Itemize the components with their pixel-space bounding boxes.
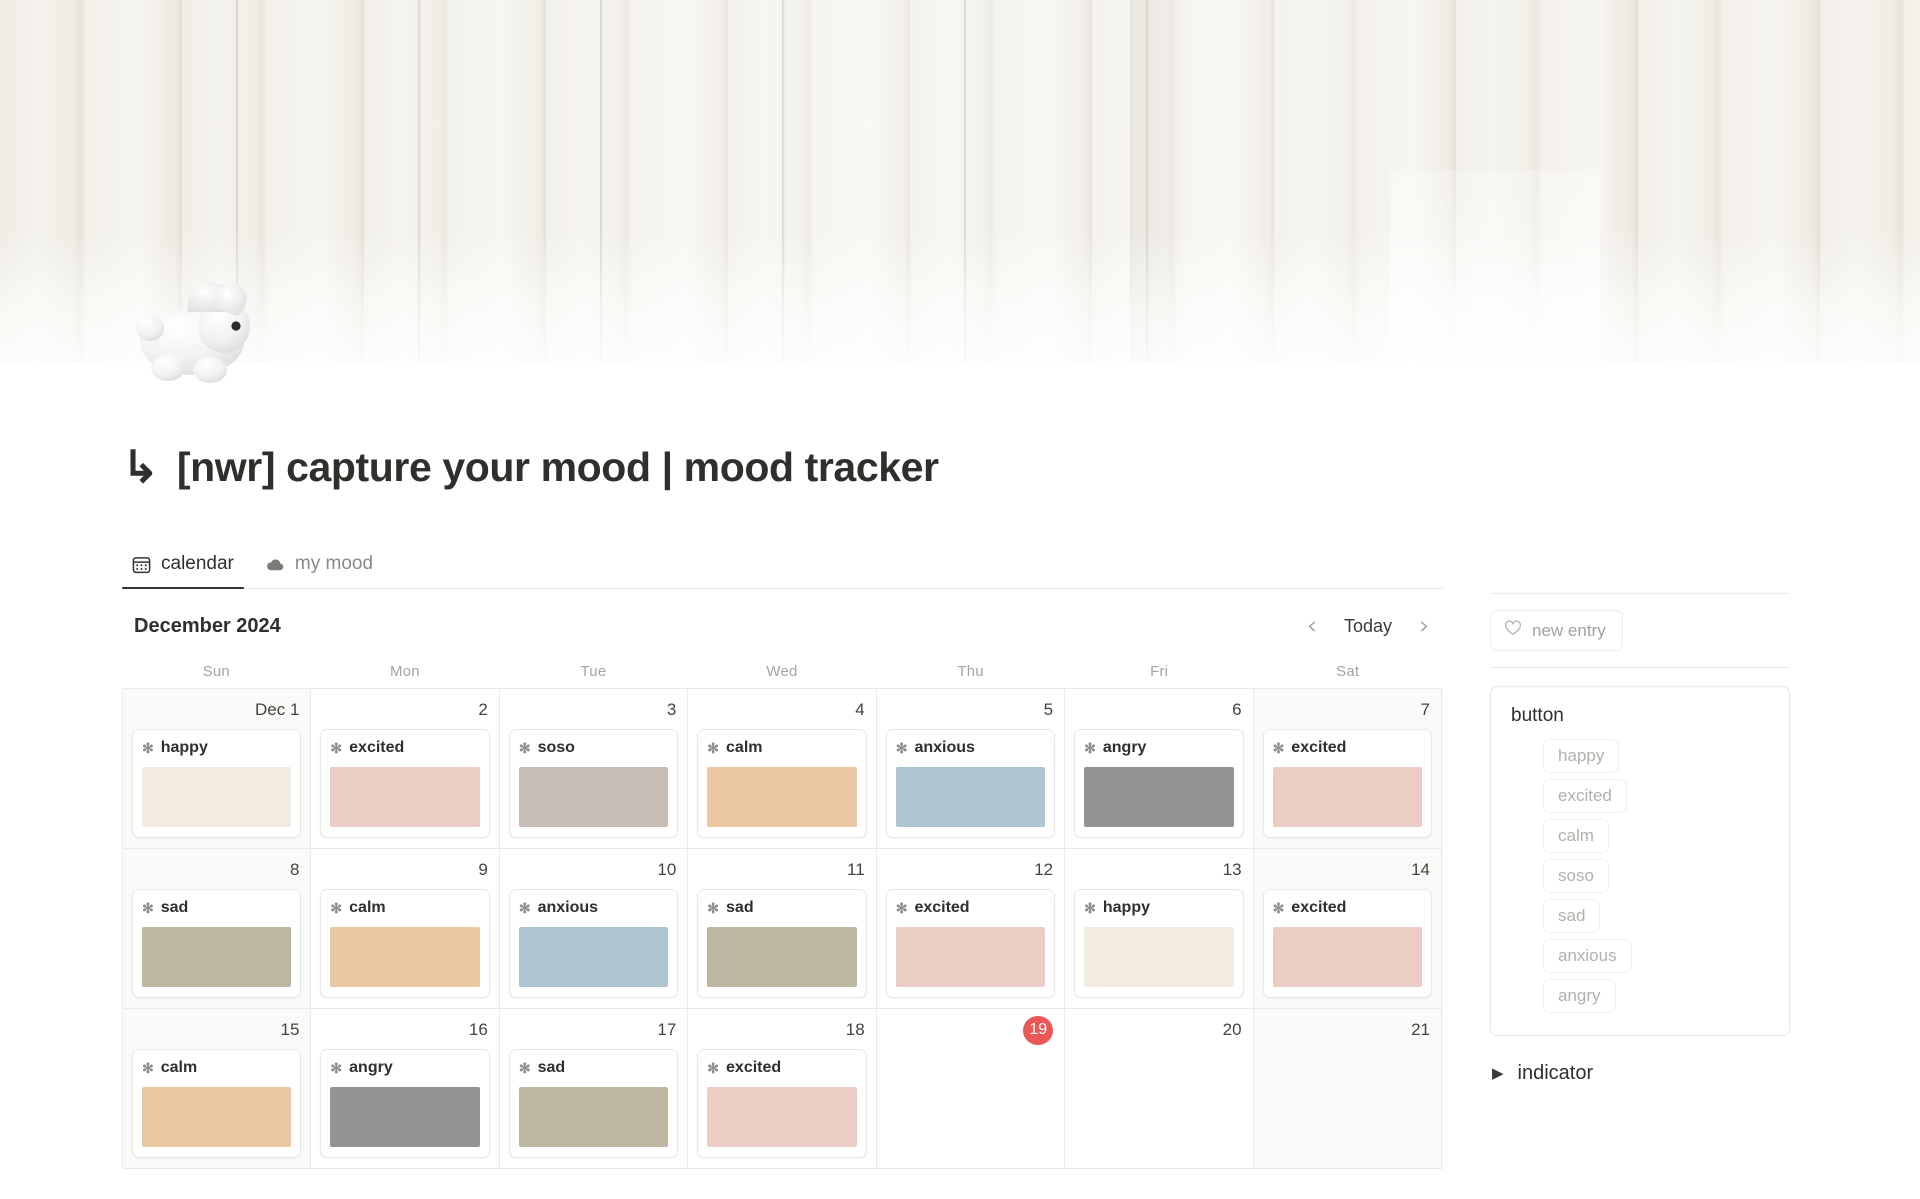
mood-chip-soso[interactable]: soso — [1543, 859, 1609, 893]
mood-label: anxious — [538, 899, 598, 917]
mood-entry-title: ✻sad — [519, 1059, 668, 1077]
weekday-tue: Tue — [499, 663, 688, 680]
calendar-day-cell[interactable]: 15✻calm — [123, 1009, 311, 1169]
day-number: 17 — [509, 1017, 678, 1043]
day-number: 16 — [320, 1017, 489, 1043]
snowflake-icon: ✻ — [707, 901, 719, 915]
mood-chip-happy[interactable]: happy — [1543, 739, 1619, 773]
mood-label: soso — [538, 739, 575, 757]
calendar-day-cell[interactable]: 21 — [1254, 1009, 1442, 1169]
day-number: 18 — [697, 1017, 866, 1043]
snowflake-icon: ✻ — [330, 901, 342, 915]
calendar-day-cell[interactable]: 2✻excited — [311, 689, 499, 849]
mood-chip-list: happyexcitedcalmsososadanxiousangry — [1511, 739, 1769, 1013]
calendar-day-cell[interactable]: 20 — [1065, 1009, 1253, 1169]
weekday-mon: Mon — [311, 663, 500, 680]
day-number: 2 — [320, 697, 489, 723]
calendar-day-cell[interactable]: 4✻calm — [688, 689, 876, 849]
right-rail: new entry button happyexcitedcalmsososad… — [1490, 589, 1790, 1089]
mood-entry-title: ✻excited — [707, 1059, 856, 1077]
weekday-sat: Sat — [1253, 663, 1442, 680]
mood-entry-title: ✻calm — [707, 739, 856, 757]
calendar-day-cell[interactable]: Dec 1✻happy — [123, 689, 311, 849]
mood-label: excited — [726, 1059, 781, 1077]
calendar-day-cell[interactable]: 7✻excited — [1254, 689, 1442, 849]
calendar-grid: Dec 1✻happy2✻excited3✻soso4✻calm5✻anxiou… — [122, 688, 1442, 1169]
snowflake-icon: ✻ — [142, 901, 154, 915]
indicator-label: indicator — [1518, 1062, 1594, 1085]
calendar-day-cell[interactable]: 19 — [877, 1009, 1065, 1169]
day-number: 4 — [697, 697, 866, 723]
mood-label: angry — [1103, 739, 1147, 757]
calendar-day-cell[interactable]: 16✻angry — [311, 1009, 499, 1169]
bunny-figurine-icon[interactable] — [128, 268, 260, 388]
day-number: 10 — [509, 857, 678, 883]
mood-color-swatch — [707, 767, 856, 827]
mood-label: excited — [914, 899, 969, 917]
snowflake-icon: ✻ — [519, 901, 531, 915]
next-month-button[interactable] — [1408, 611, 1438, 641]
calendar-day-cell[interactable]: 10✻anxious — [500, 849, 688, 1009]
mood-label: sad — [538, 1059, 566, 1077]
mood-label: excited — [1291, 899, 1346, 917]
mood-color-swatch — [519, 927, 668, 987]
mood-color-swatch — [330, 927, 479, 987]
indicator-toggle[interactable]: ▶ indicator — [1490, 1058, 1790, 1089]
banner-bottom-fade — [0, 232, 1920, 362]
button-panel: button happyexcitedcalmsososadanxiousang… — [1490, 686, 1790, 1036]
snowflake-icon: ✻ — [1084, 901, 1096, 915]
cloud-icon — [266, 555, 285, 574]
calendar-day-cell[interactable]: 11✻sad — [688, 849, 876, 1009]
calendar-header: December 2024 Today — [122, 589, 1442, 663]
mood-entry-card[interactable]: ✻excited — [886, 889, 1055, 998]
day-number: 21 — [1263, 1017, 1432, 1043]
mood-label: excited — [1291, 739, 1346, 757]
calendar-day-cell[interactable]: 3✻soso — [500, 689, 688, 849]
mood-entry-card[interactable]: ✻calm — [697, 729, 866, 838]
calendar-icon — [132, 555, 151, 574]
mood-entry-card[interactable]: ✻calm — [320, 889, 489, 998]
heart-icon — [1504, 620, 1522, 641]
mood-entry-card[interactable]: ✻excited — [1263, 729, 1432, 838]
mood-entry-title: ✻angry — [330, 1059, 479, 1077]
new-entry-button[interactable]: new entry — [1490, 610, 1623, 651]
view-tabs: calendar my mood — [122, 547, 1442, 589]
mood-color-swatch — [1273, 767, 1422, 827]
day-number: 5 — [886, 697, 1055, 723]
mood-entry-title: ✻anxious — [896, 739, 1045, 757]
calendar-view: December 2024 Today SunMonTueWedThuFriSa… — [122, 589, 1442, 1169]
calendar-day-cell[interactable]: 8✻sad — [123, 849, 311, 1009]
mood-color-swatch — [707, 927, 856, 987]
mood-entry-title: ✻calm — [142, 1059, 291, 1077]
page-title[interactable]: [nwr] capture your mood | mood tracker — [177, 444, 939, 491]
prev-month-button[interactable] — [1298, 611, 1328, 641]
page-cover-banner — [0, 0, 1920, 362]
weekday-sun: Sun — [122, 663, 311, 680]
mood-entry-card[interactable]: ✻anxious — [509, 889, 678, 998]
mood-entry-title: ✻happy — [1084, 899, 1233, 917]
snowflake-icon: ✻ — [1273, 901, 1285, 915]
chevron-right-icon: ▶ — [1492, 1066, 1504, 1081]
day-number: 20 — [1074, 1017, 1243, 1043]
day-number: 11 — [697, 857, 866, 883]
day-number: Dec 1 — [132, 697, 301, 723]
mood-label: angry — [349, 1059, 393, 1077]
mood-entry-card[interactable]: ✻sad — [509, 1049, 678, 1158]
snowflake-icon: ✻ — [142, 1061, 154, 1075]
weekday-fri: Fri — [1065, 663, 1254, 680]
mood-chip-anxious[interactable]: anxious — [1543, 939, 1632, 973]
calendar-day-cell[interactable]: 13✻happy — [1065, 849, 1253, 1009]
calendar-day-cell[interactable]: 9✻calm — [311, 849, 499, 1009]
calendar-month-label: December 2024 — [134, 615, 281, 638]
day-number: 15 — [132, 1017, 301, 1043]
mood-label: anxious — [914, 739, 974, 757]
mood-entry-title: ✻sad — [142, 899, 291, 917]
day-number: 19 — [886, 1017, 1055, 1043]
snowflake-icon: ✻ — [707, 741, 719, 755]
calendar-day-cell[interactable]: 14✻excited — [1254, 849, 1442, 1009]
snowflake-icon: ✻ — [142, 741, 154, 755]
tab-my-mood-label: my mood — [295, 553, 373, 575]
mood-color-swatch — [896, 927, 1045, 987]
snowflake-icon: ✻ — [707, 1061, 719, 1075]
weekday-wed: Wed — [688, 663, 877, 680]
calendar-day-cell[interactable]: 12✻excited — [877, 849, 1065, 1009]
rail-divider-top — [1490, 593, 1790, 594]
mood-color-swatch — [896, 767, 1045, 827]
mood-chip-sad[interactable]: sad — [1543, 899, 1600, 933]
mood-label: sad — [161, 899, 189, 917]
day-number: 8 — [132, 857, 301, 883]
mood-color-swatch — [330, 767, 479, 827]
mood-color-swatch — [1273, 927, 1422, 987]
mood-entry-title: ✻excited — [1273, 739, 1422, 757]
mood-label: calm — [349, 899, 385, 917]
mood-label: calm — [161, 1059, 197, 1077]
mood-entry-title: ✻excited — [330, 739, 479, 757]
mood-chip-calm[interactable]: calm — [1543, 819, 1609, 853]
today-badge: 19 — [1023, 1016, 1053, 1045]
mood-entry-card[interactable]: ✻anxious — [886, 729, 1055, 838]
mood-label: happy — [1103, 899, 1150, 917]
mood-entry-card[interactable]: ✻happy — [132, 729, 301, 838]
mood-entry-title: ✻anxious — [519, 899, 668, 917]
snowflake-icon: ✻ — [330, 741, 342, 755]
mood-color-swatch — [1084, 767, 1233, 827]
rail-divider-bottom — [1490, 667, 1790, 668]
mood-entry-title: ✻angry — [1084, 739, 1233, 757]
snowflake-icon: ✻ — [1273, 741, 1285, 755]
mood-entry-card[interactable]: ✻angry — [1074, 729, 1243, 838]
mood-color-swatch — [519, 1087, 668, 1147]
mood-entry-card[interactable]: ✻soso — [509, 729, 678, 838]
mood-entry-title: ✻sad — [707, 899, 856, 917]
day-number: 6 — [1074, 697, 1243, 723]
mood-chip-excited[interactable]: excited — [1543, 779, 1627, 813]
tab-calendar[interactable]: calendar — [122, 547, 244, 588]
tab-calendar-label: calendar — [161, 553, 234, 575]
mood-entry-title: ✻excited — [896, 899, 1045, 917]
day-number: 12 — [886, 857, 1055, 883]
snowflake-icon: ✻ — [896, 901, 908, 915]
mood-color-swatch — [519, 767, 668, 827]
snowflake-icon: ✻ — [1084, 741, 1096, 755]
title-arrow-icon: ↳ — [122, 446, 159, 490]
mood-entry-title: ✻soso — [519, 739, 668, 757]
mood-entry-card[interactable]: ✻sad — [132, 889, 301, 998]
mood-label: excited — [349, 739, 404, 757]
mood-entry-card[interactable]: ✻happy — [1074, 889, 1243, 998]
main-split: December 2024 Today SunMonTueWedThuFriSa… — [0, 589, 1920, 1169]
snowflake-icon: ✻ — [519, 1061, 531, 1075]
button-panel-title: button — [1511, 705, 1769, 727]
mood-color-swatch — [142, 1087, 291, 1147]
weekday-header-row: SunMonTueWedThuFriSat — [122, 663, 1442, 688]
mood-color-swatch — [142, 927, 291, 987]
new-entry-label: new entry — [1532, 621, 1606, 641]
today-button[interactable]: Today — [1334, 612, 1402, 641]
page-title-row: ↳ [nwr] capture your mood | mood tracker — [0, 362, 1920, 491]
mood-chip-angry[interactable]: angry — [1543, 979, 1616, 1013]
snowflake-icon: ✻ — [519, 741, 531, 755]
day-number: 13 — [1074, 857, 1243, 883]
mood-entry-card[interactable]: ✻excited — [697, 1049, 866, 1158]
mood-entry-title: ✻excited — [1273, 899, 1422, 917]
mood-label: sad — [726, 899, 754, 917]
calendar-nav: Today — [1298, 611, 1438, 641]
mood-color-swatch — [142, 767, 291, 827]
mood-label: happy — [161, 739, 208, 757]
day-number: 9 — [320, 857, 489, 883]
mood-color-swatch — [330, 1087, 479, 1147]
day-number: 7 — [1263, 697, 1432, 723]
mood-entry-title: ✻calm — [330, 899, 479, 917]
snowflake-icon: ✻ — [330, 1061, 342, 1075]
mood-entry-card[interactable]: ✻excited — [1263, 889, 1432, 998]
tab-my-mood[interactable]: my mood — [256, 547, 383, 588]
mood-entry-card[interactable]: ✻calm — [132, 1049, 301, 1158]
day-number: 14 — [1263, 857, 1432, 883]
calendar-day-cell[interactable]: 5✻anxious — [877, 689, 1065, 849]
calendar-day-cell[interactable]: 18✻excited — [688, 1009, 876, 1169]
calendar-day-cell[interactable]: 6✻angry — [1065, 689, 1253, 849]
snowflake-icon: ✻ — [896, 741, 908, 755]
mood-entry-card[interactable]: ✻sad — [697, 889, 866, 998]
mood-entry-card[interactable]: ✻angry — [320, 1049, 489, 1158]
page-content: ↳ [nwr] capture your mood | mood tracker… — [0, 362, 1920, 1169]
mood-color-swatch — [707, 1087, 856, 1147]
mood-entry-title: ✻happy — [142, 739, 291, 757]
mood-label: calm — [726, 739, 762, 757]
weekday-thu: Thu — [876, 663, 1065, 680]
mood-color-swatch — [1084, 927, 1233, 987]
day-number: 3 — [509, 697, 678, 723]
calendar-day-cell[interactable]: 17✻sad — [500, 1009, 688, 1169]
mood-entry-card[interactable]: ✻excited — [320, 729, 489, 838]
